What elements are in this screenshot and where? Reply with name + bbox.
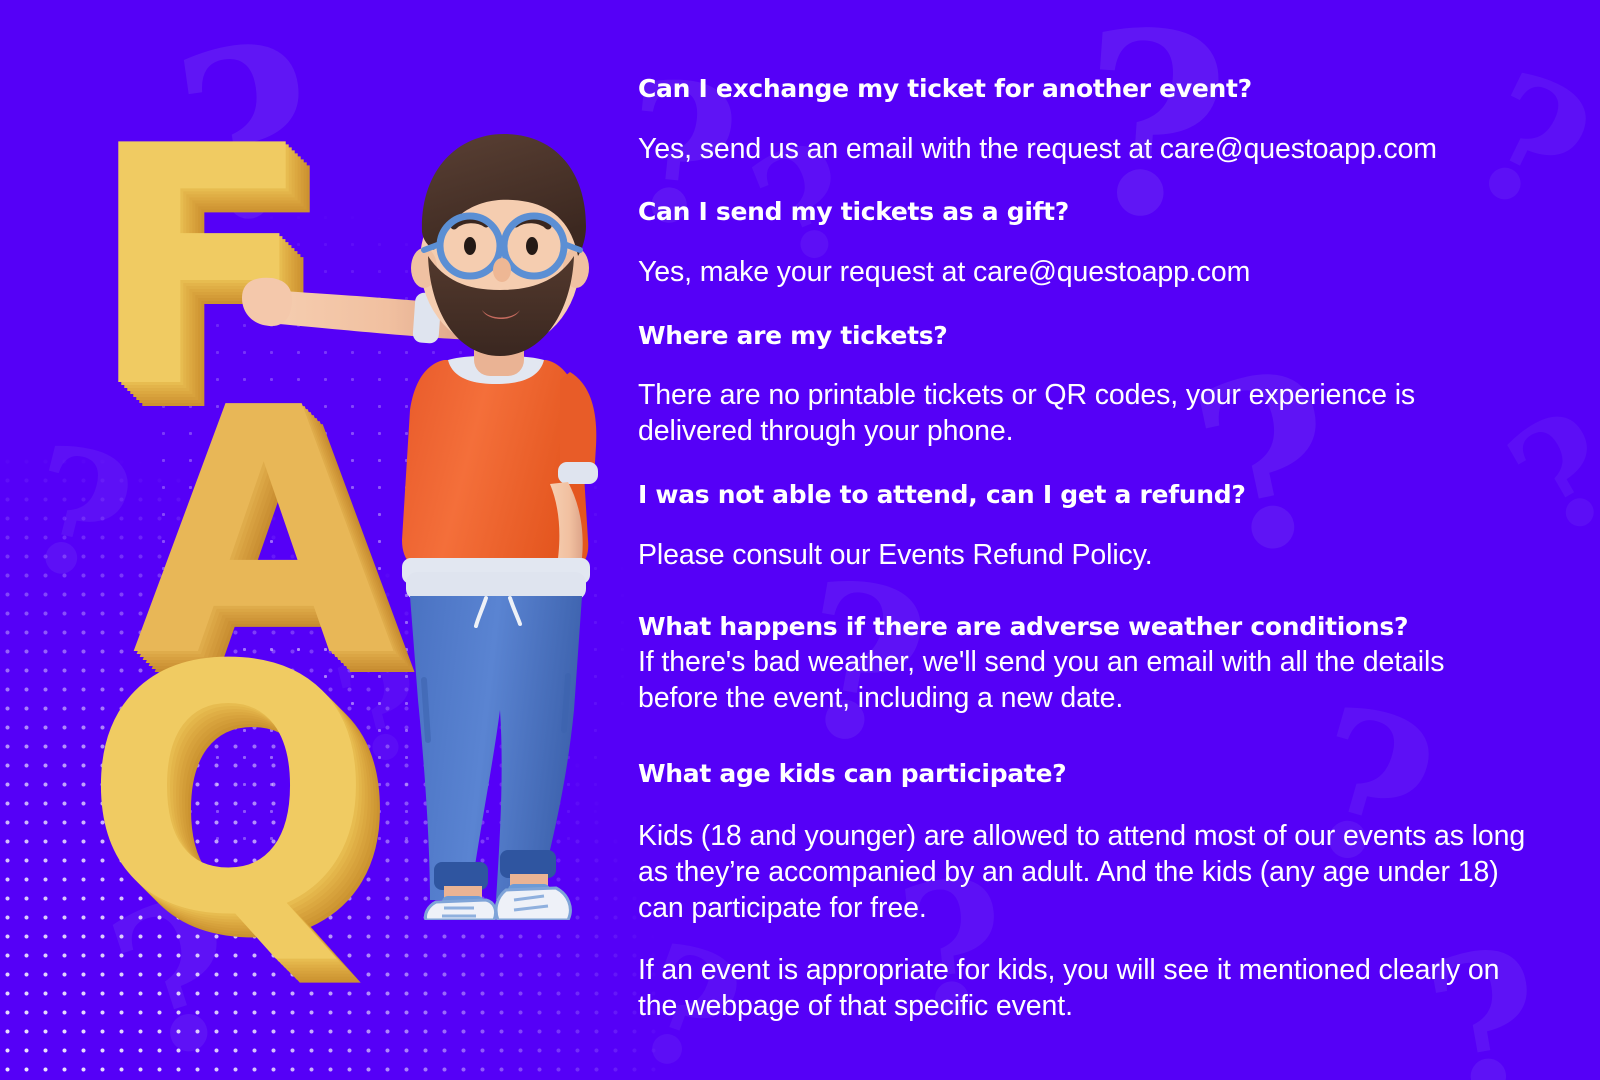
faq-answer: There are no printable tickets or QR cod…: [638, 378, 1528, 450]
faq-question: What age kids can participate?: [638, 759, 1528, 790]
character-waistband: [406, 572, 586, 600]
faq-item: What happens if there are adverse weathe…: [638, 612, 1528, 717]
faq-answer: Yes, make your request at care@questoapp…: [638, 255, 1528, 291]
character-shoe-right: [496, 888, 570, 920]
faq-question: Can I send my tickets as a gift?: [638, 197, 1528, 228]
faq-question: I was not able to attend, can I get a re…: [638, 480, 1528, 511]
faq-answer: Please consult our Events Refund Policy.: [638, 538, 1528, 574]
faq-item: What age kids can participate?Kids (18 a…: [638, 759, 1528, 1025]
faq-question: What happens if there are adverse weathe…: [638, 612, 1528, 643]
faq-list: Can I exchange my ticket for another eve…: [638, 74, 1528, 1025]
faq-answer: Kids (18 and younger) are allowed to att…: [638, 819, 1528, 927]
faq-page: ??????????????? F A Q: [0, 0, 1600, 1080]
faq-item: Can I exchange my ticket for another eve…: [638, 74, 1528, 167]
faq-item: Can I send my tickets as a gift?Yes, mak…: [638, 197, 1528, 290]
character-pant-cuff-right: [500, 850, 556, 878]
character-illustration: [238, 110, 638, 920]
faq-item: I was not able to attend, can I get a re…: [638, 480, 1528, 573]
character-nose: [493, 258, 511, 282]
faq-answer: If there's bad weather, we'll send you a…: [638, 645, 1528, 717]
character-hand: [242, 278, 292, 326]
character-eye-left: [464, 237, 476, 255]
faq-question: Where are my tickets?: [638, 321, 1528, 352]
faq-answer: If an event is appropriate for kids, you…: [638, 953, 1528, 1025]
character-eye-right: [526, 237, 538, 255]
character-right-cuff: [558, 462, 598, 484]
character-pants: [410, 596, 582, 900]
faq-item: Where are my tickets?There are no printa…: [638, 321, 1528, 450]
character-pant-cuff-left: [434, 862, 488, 890]
faq-answer: Yes, send us an email with the request a…: [638, 132, 1528, 168]
faq-question: Can I exchange my ticket for another eve…: [638, 74, 1528, 105]
